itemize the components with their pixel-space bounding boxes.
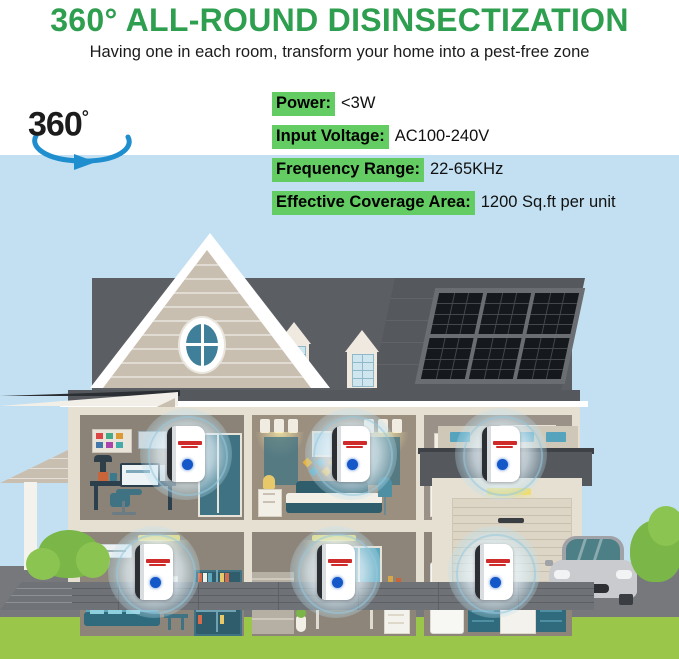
bush xyxy=(26,548,60,580)
pest-repeller-device xyxy=(305,408,397,500)
device-body xyxy=(475,544,513,600)
solar-panel xyxy=(421,338,474,379)
device-led-indicator xyxy=(347,459,358,470)
bed-base xyxy=(286,503,382,513)
car-wheel xyxy=(619,594,633,605)
solar-panel xyxy=(478,293,531,334)
car-headlight xyxy=(616,570,632,579)
ceiling-light xyxy=(260,419,270,433)
bush xyxy=(648,506,679,546)
device-body xyxy=(167,426,205,482)
pest-repeller-device xyxy=(448,526,540,618)
garage-door-handle xyxy=(498,518,524,523)
solar-panel xyxy=(526,293,579,334)
infographic-canvas: 360° ALL-ROUND DISINSECTIZATION Having o… xyxy=(0,0,679,659)
front-steps xyxy=(0,582,72,610)
pest-repeller-device xyxy=(455,408,547,500)
pest-repeller-device xyxy=(290,526,382,618)
badge-degree: ° xyxy=(82,107,88,127)
solar-panel xyxy=(469,338,522,379)
device-led-indicator xyxy=(497,459,508,470)
spec-list: Power: <3W Input Voltage: AC100-240V Fre… xyxy=(272,92,676,224)
device-brand-logo xyxy=(486,558,510,567)
pest-repeller-device xyxy=(140,408,232,500)
spec-value: AC100-240V xyxy=(395,127,489,146)
header: 360° ALL-ROUND DISINSECTIZATION Having o… xyxy=(0,0,679,72)
device-brand-logo xyxy=(493,440,517,449)
solar-panel xyxy=(517,338,570,379)
bush xyxy=(76,542,110,578)
badge-360: 360° xyxy=(22,96,142,168)
device-brand-logo xyxy=(328,558,352,567)
device-led-indicator xyxy=(332,577,343,588)
dormer-window xyxy=(345,330,379,388)
spec-value: <3W xyxy=(341,94,375,113)
device-body xyxy=(317,544,355,600)
badge-number: 360 xyxy=(28,105,82,143)
spec-value: 22-65KHz xyxy=(430,160,503,179)
solar-panel xyxy=(430,293,483,334)
device-brand-logo xyxy=(343,440,367,449)
page-subtitle: Having one in each room, transform your … xyxy=(0,41,679,63)
badge-360-text: 360° xyxy=(28,98,88,143)
car-mirror xyxy=(545,560,553,566)
spec-row-coverage-area: Effective Coverage Area: 1200 Sq.ft per … xyxy=(272,191,676,215)
device-led-indicator xyxy=(490,577,501,588)
spec-value: 1200 Sq.ft per unit xyxy=(481,193,616,212)
window-mullion-horizontal xyxy=(186,343,218,346)
device-led-indicator xyxy=(182,459,193,470)
page-title: 360° ALL-ROUND DISINSECTIZATION xyxy=(0,2,679,38)
device-led-indicator xyxy=(150,577,161,588)
spec-row-frequency-range: Frequency Range: 22-65KHz xyxy=(272,158,676,182)
spec-label: Frequency Range: xyxy=(272,158,424,182)
spec-row-input-voltage: Input Voltage: AC100-240V xyxy=(272,125,676,149)
car-headlight xyxy=(554,570,570,579)
house-cutaway xyxy=(0,230,679,630)
device-brand-logo xyxy=(146,558,170,567)
vase xyxy=(296,616,306,632)
spec-label: Input Voltage: xyxy=(272,125,389,149)
device-body xyxy=(332,426,370,482)
device-body xyxy=(135,544,173,600)
table-lamp xyxy=(263,475,275,489)
spec-row-power: Power: <3W xyxy=(272,92,676,116)
device-body xyxy=(482,426,520,482)
solar-panel-array xyxy=(415,288,585,384)
side-cabinet xyxy=(384,608,410,634)
spec-label: Effective Coverage Area: xyxy=(272,191,475,215)
pest-repeller-device xyxy=(108,526,200,618)
device-brand-logo xyxy=(178,440,202,449)
spec-label: Power: xyxy=(272,92,335,116)
